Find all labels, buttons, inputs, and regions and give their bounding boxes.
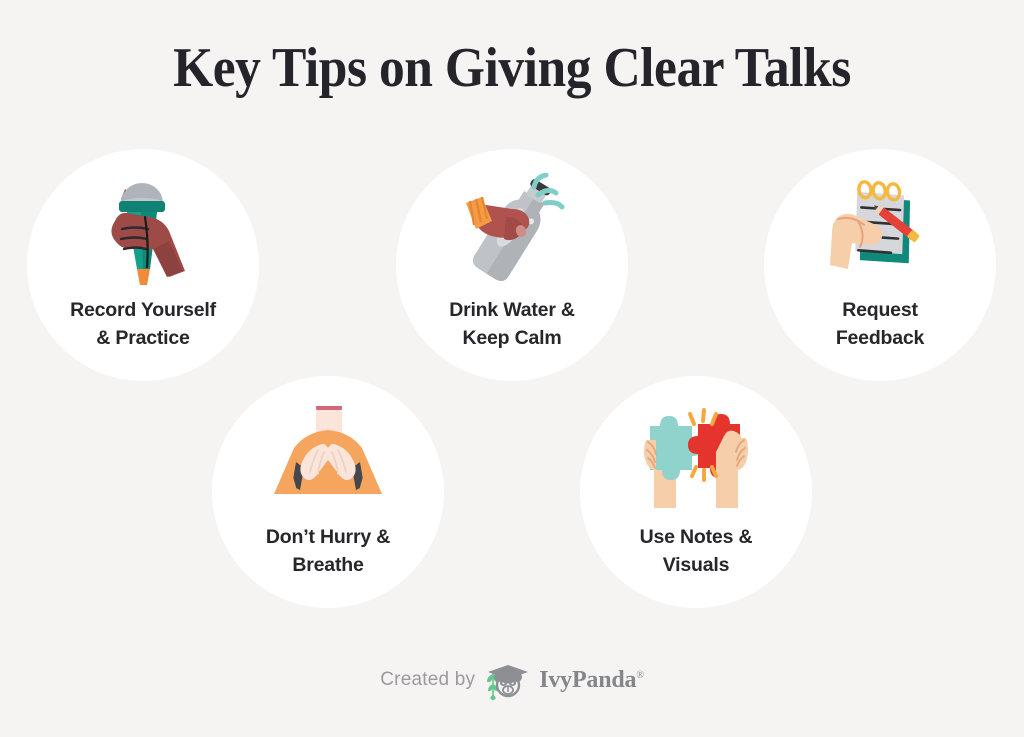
infographic-root: Key Tips on Giving Clear Talks Record Y — [0, 0, 1024, 737]
page-title: Key Tips on Giving Clear Talks — [41, 36, 983, 100]
hand-holding-notepad-pencil-icon — [814, 173, 946, 291]
tip-card-use-notes: Use Notes & Visuals — [580, 376, 812, 608]
created-by-label: Created by — [380, 669, 475, 691]
tip-label-dont-hurry: Don’t Hurry & Breathe — [221, 524, 436, 579]
footer-credit: Created by IvyPanda® — [0, 660, 1024, 700]
tip-card-drink-water: Drink Water & Keep Calm — [396, 149, 628, 381]
tip-card-dont-hurry: Don’t Hurry & Breathe — [212, 376, 444, 608]
tip-label-use-notes: Use Notes & Visuals — [589, 524, 804, 579]
tip-card-request-feedback: Request Feedback — [764, 149, 996, 381]
tip-card-record-yourself: Record Yourself & Practice — [27, 149, 259, 381]
hand-holding-water-bottle-icon — [446, 173, 578, 291]
tip-label-drink-water: Drink Water & Keep Calm — [405, 297, 620, 352]
tip-label-request-feedback: Request Feedback — [773, 297, 988, 352]
hands-joining-puzzle-pieces-icon — [630, 400, 762, 518]
ivypanda-graduate-panda-logo — [484, 660, 530, 700]
brand-name: IvyPanda — [539, 667, 636, 693]
trademark-symbol: ® — [636, 670, 643, 681]
person-hands-on-chest-breathing-icon — [262, 400, 394, 518]
tip-label-record-yourself: Record Yourself & Practice — [36, 297, 251, 352]
hand-holding-microphone-icon — [77, 173, 209, 291]
brand-wordmark: IvyPanda® — [539, 667, 644, 694]
